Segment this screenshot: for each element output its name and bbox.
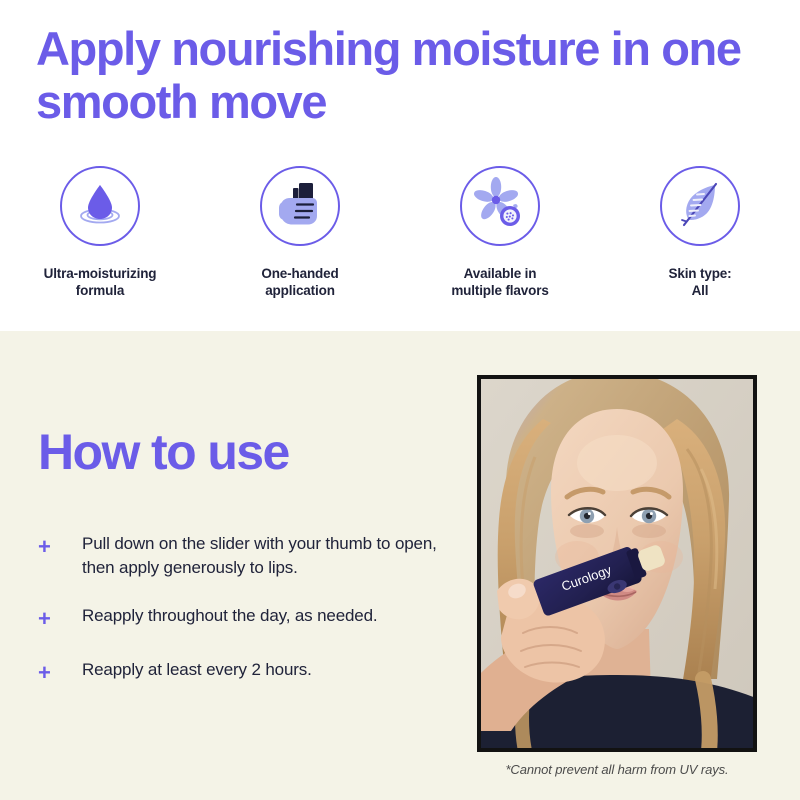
feature-icon-circle	[460, 166, 540, 246]
photo-caption: *Cannot prevent all harm from UV rays.	[477, 762, 757, 777]
feature-label: Ultra-moisturizing formula	[44, 265, 157, 300]
flower-fruit-icon	[472, 176, 528, 237]
top-section: Apply nourishing moisture in one smooth …	[0, 0, 800, 331]
product-photo-illustration: Curology	[481, 379, 753, 748]
feature-label: Skin type: All	[668, 265, 731, 300]
feature-item-skin-type: Skin type: All	[600, 166, 800, 300]
plus-bullet-icon: +	[34, 532, 82, 561]
feature-item-one-handed: One-handed application	[200, 166, 400, 300]
feature-icon-circle	[660, 166, 740, 246]
howto-step-list: + Pull down on the slider with your thum…	[34, 532, 444, 687]
howto-step: + Pull down on the slider with your thum…	[34, 532, 444, 580]
feature-item-ultra-moisturizing: Ultra-moisturizing formula	[0, 166, 200, 300]
howto-step-text: Reapply throughout the day, as needed.	[82, 604, 444, 628]
howto-step-text: Reapply at least every 2 hours.	[82, 658, 444, 682]
feature-icon-circle	[260, 166, 340, 246]
promo-page: Apply nourishing moisture in one smooth …	[0, 0, 800, 800]
feature-label: Available in multiple flavors	[451, 265, 548, 300]
feature-icon-circle	[60, 166, 140, 246]
howto-step: + Reapply throughout the day, as needed.	[34, 604, 444, 633]
plus-bullet-icon: +	[34, 604, 82, 633]
feature-label: One-handed application	[261, 265, 338, 300]
feature-list: Ultra-moisturizing formula	[0, 166, 800, 300]
plus-bullet-icon: +	[34, 658, 82, 687]
product-photo: Curology	[481, 379, 753, 748]
hand-holding-tube-icon	[272, 176, 328, 237]
howto-step: + Reapply at least every 2 hours.	[34, 658, 444, 687]
feather-icon	[672, 176, 728, 237]
feature-item-flavors: Available in multiple flavors	[400, 166, 600, 300]
product-photo-frame: Curology	[477, 375, 757, 752]
water-drop-icon	[72, 176, 128, 237]
howto-step-text: Pull down on the slider with your thumb …	[82, 532, 444, 580]
page-headline: Apply nourishing moisture in one smooth …	[36, 22, 756, 128]
howto-title: How to use	[38, 427, 289, 477]
